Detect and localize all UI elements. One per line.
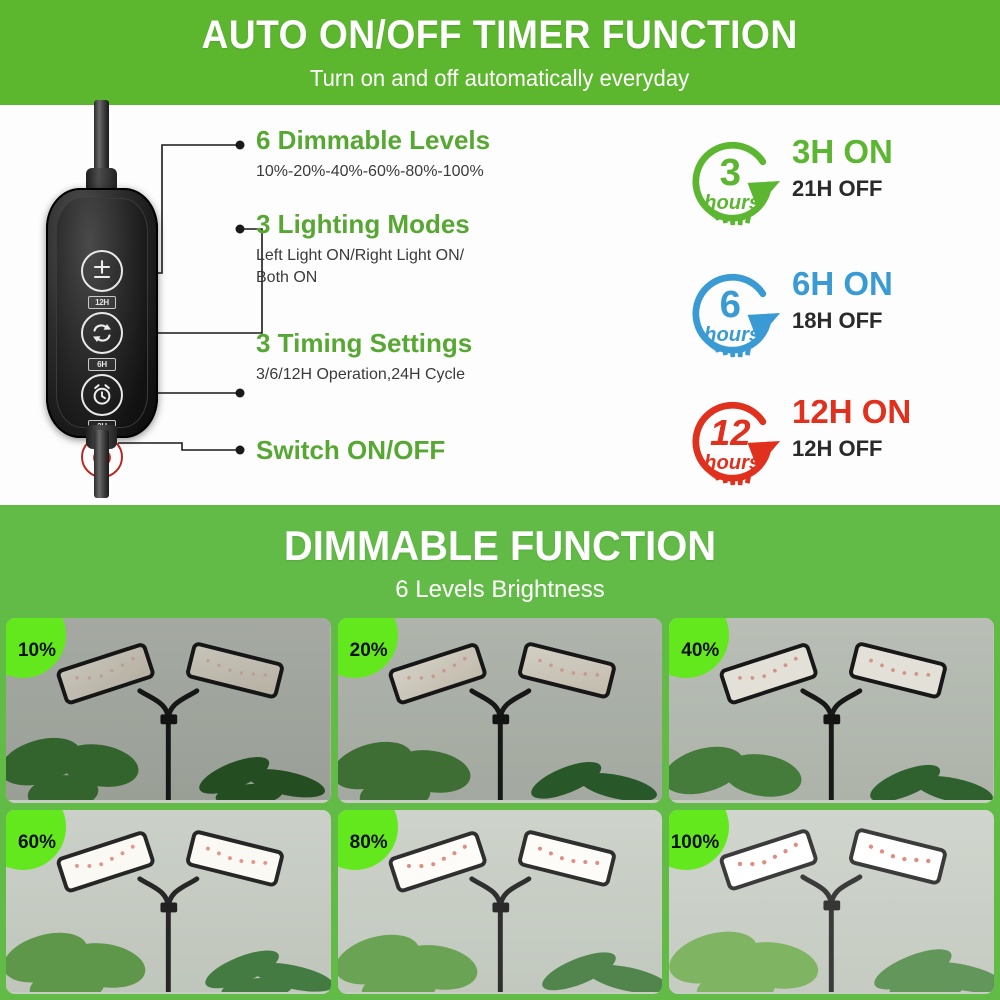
feature-sub: 10%-20%-40%-60%-80%-100% bbox=[256, 161, 490, 183]
timer-on-label: 3H ON bbox=[792, 135, 893, 170]
timer-off-label: 12H OFF bbox=[792, 438, 911, 460]
cycle-arrows-icon bbox=[90, 321, 114, 345]
brightness-cell[interactable]: 40% bbox=[669, 618, 994, 803]
feature-head: 3 Lighting Modes bbox=[256, 211, 470, 238]
clock-arrow-icon: 12 hours bbox=[688, 393, 784, 489]
feature-sub-line-1: Left Light ON/Right Light ON/ bbox=[256, 245, 470, 267]
brightness-label: 60% bbox=[18, 833, 56, 852]
brightness-label: 80% bbox=[350, 833, 388, 852]
timer-badge-number: 6 bbox=[720, 283, 741, 326]
timer-badge-number: 3 bbox=[720, 151, 741, 194]
feature-head: Switch ON/OFF bbox=[256, 437, 445, 464]
top-banner-subtitle: Turn on and off automatically everyday bbox=[310, 67, 689, 90]
plus-minus-icon bbox=[91, 260, 113, 282]
dimmable-function-section: DIMMABLE FUNCTION 6 Levels Brightness bbox=[0, 505, 1000, 1000]
timer-option-6h: 6 hours 6H ON 18H OFF bbox=[688, 265, 998, 361]
feature-timing-settings: 3 Timing Settings 3/6/12H Operation,24H … bbox=[256, 330, 472, 386]
features-panel: 12H 6H 3H bbox=[0, 105, 1000, 505]
lighting-mode-button[interactable] bbox=[81, 312, 123, 354]
timer-off-label: 21H OFF bbox=[792, 178, 893, 200]
clock-arrow-icon: 3 hours bbox=[688, 133, 784, 229]
lower-banner-title: DIMMABLE FUNCTION bbox=[25, 525, 975, 567]
timer-badge-unit: hours bbox=[704, 192, 760, 214]
indicator-6h: 6H bbox=[88, 358, 116, 371]
power-cord-top bbox=[94, 100, 109, 178]
brightness-plus-minus-button[interactable] bbox=[81, 250, 123, 292]
top-banner: AUTO ON/OFF TIMER FUNCTION Turn on and o… bbox=[0, 0, 1000, 105]
feature-dimmable-levels: 6 Dimmable Levels 10%-20%-40%-60%-80%-10… bbox=[256, 127, 490, 183]
brightness-grid: 10% bbox=[6, 618, 994, 994]
timer-option-12h: 12 hours 12H ON 12H OFF bbox=[688, 393, 998, 489]
timer-labels-12h: 12H ON 12H OFF bbox=[792, 395, 911, 460]
brightness-cell[interactable]: 100% bbox=[669, 810, 994, 995]
feature-lighting-modes: 3 Lighting Modes Left Light ON/Right Lig… bbox=[256, 211, 470, 288]
feature-head: 6 Dimmable Levels bbox=[256, 127, 490, 154]
brightness-cell[interactable]: 80% bbox=[338, 810, 663, 995]
lower-banner-subtitle: 6 Levels Brightness bbox=[0, 578, 1000, 602]
top-banner-title: AUTO ON/OFF TIMER FUNCTION bbox=[202, 15, 798, 55]
brightness-label: 10% bbox=[18, 641, 56, 660]
timer-badge-6h: 6 hours bbox=[688, 265, 784, 361]
timer-off-label: 18H OFF bbox=[792, 310, 893, 332]
timer-badge-12h: 12 hours bbox=[688, 393, 784, 489]
clock-arrow-icon: 6 hours bbox=[688, 265, 784, 361]
brightness-cell[interactable]: 20% bbox=[338, 618, 663, 803]
controller-device: 12H 6H 3H bbox=[18, 100, 208, 500]
timer-on-label: 6H ON bbox=[792, 267, 893, 302]
feature-sub: 3/6/12H Operation,24H Cycle bbox=[256, 364, 472, 386]
feature-head: 3 Timing Settings bbox=[256, 330, 472, 357]
feature-sub-line-2: Both ON bbox=[256, 267, 470, 289]
indicator-12h: 12H bbox=[88, 296, 116, 309]
timer-button[interactable] bbox=[81, 374, 123, 416]
timer-badge-unit: hours bbox=[704, 324, 760, 346]
timer-labels-6h: 6H ON 18H OFF bbox=[792, 267, 893, 332]
timer-option-3h: 3 hours 3H ON 21H OFF bbox=[688, 133, 998, 229]
timer-on-label: 12H ON bbox=[792, 395, 911, 430]
timer-badge-number: 12 bbox=[710, 412, 751, 453]
timer-labels-3h: 3H ON 21H OFF bbox=[792, 135, 893, 200]
brightness-label: 40% bbox=[681, 641, 719, 660]
alarm-clock-icon bbox=[90, 383, 114, 407]
power-cord-bottom bbox=[94, 430, 109, 498]
brightness-label: 100% bbox=[671, 833, 720, 852]
brightness-cell[interactable]: 60% bbox=[6, 810, 331, 995]
brightness-label: 20% bbox=[350, 641, 388, 660]
timer-badge-3h: 3 hours bbox=[688, 133, 784, 229]
brightness-cell[interactable]: 10% bbox=[6, 618, 331, 803]
feature-switch-on-off: Switch ON/OFF bbox=[256, 437, 445, 464]
timer-badge-unit: hours bbox=[704, 452, 760, 474]
